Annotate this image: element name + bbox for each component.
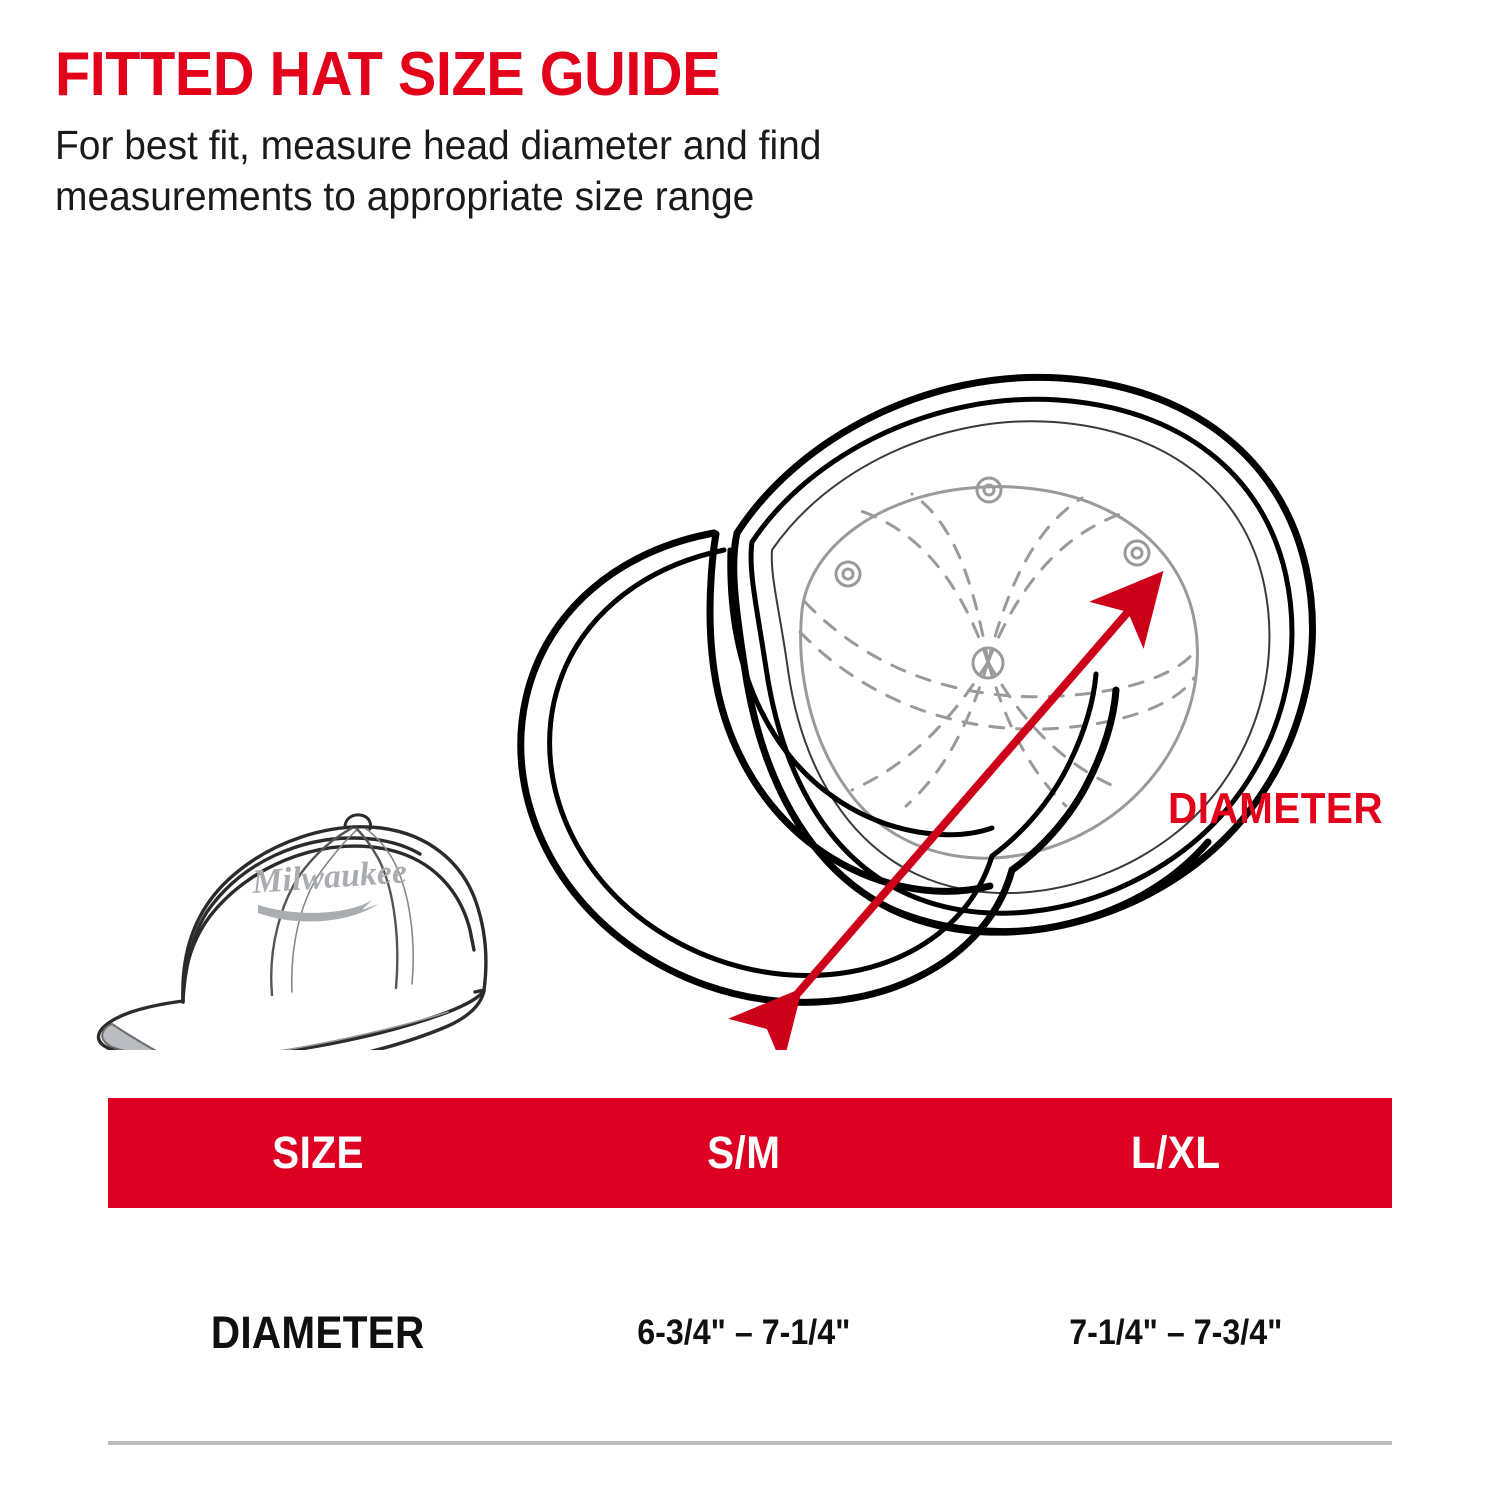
eyelet-right (1125, 541, 1149, 565)
seam-b (912, 494, 988, 662)
cap-outer-edge-inner (751, 399, 1292, 913)
subtitle-line-2: measurements to appropriate size range (55, 171, 1005, 222)
size-guide-page: FITTED HAT SIZE GUIDE For best fit, meas… (0, 0, 1500, 1500)
page-title: FITTED HAT SIZE GUIDE (55, 44, 985, 106)
table-sm-value-text: 6-3/4" – 7-1/4" (637, 1313, 850, 1353)
table-header-row: SIZE S/M L/XL (108, 1098, 1392, 1208)
seam-d (988, 498, 1082, 662)
table-header-size-text: SIZE (272, 1127, 364, 1179)
small-cap-side-view (98, 815, 485, 1050)
hat-illustration-svg: Milwaukee (0, 250, 1500, 1050)
table-header-cell-sm: S/M (528, 1127, 960, 1179)
milwaukee-lightning-bolt (258, 900, 378, 922)
cap-back-contour (893, 842, 1208, 932)
diameter-callout-label: DIAMETER (1168, 784, 1383, 834)
table-header-sm-text: S/M (707, 1127, 780, 1179)
header: FITTED HAT SIZE GUIDE For best fit, meas… (55, 44, 1055, 222)
table-header-lxl-text: L/XL (1131, 1127, 1221, 1179)
cap-eyelets (836, 478, 1149, 586)
large-cap-interior-view (521, 377, 1313, 1002)
milwaukee-logo-text: Milwaukee (250, 853, 408, 901)
cap-band (240, 1012, 448, 1050)
seam-a (858, 510, 988, 662)
cap-brim-underside (102, 1024, 158, 1050)
eyelet-top (977, 478, 1001, 502)
cap-brim-top (98, 991, 484, 1050)
seam-equator-2 (800, 632, 1194, 729)
table-lxl-value-text: 7-1/4" – 7-3/4" (1069, 1313, 1282, 1353)
subtitle-line-1: For best fit, measure head diameter and … (55, 120, 1005, 171)
table-row: DIAMETER 6-3/4" – 7-1/4" 7-1/4" – 7-3/4" (108, 1278, 1392, 1388)
table-cell-lxl-value: 7-1/4" – 7-3/4" (960, 1313, 1392, 1353)
table-header-cell-lxl: L/XL (960, 1127, 1392, 1179)
seam-e (852, 662, 988, 790)
cap-brim-right-band-inner (992, 674, 1096, 856)
page-subtitle: For best fit, measure head diameter and … (55, 120, 1005, 222)
size-table: SIZE S/M L/XL DIAMETER 6-3/4" – 7-1/4" 7… (108, 1098, 1392, 1388)
milwaukee-logo: Milwaukee (250, 853, 408, 921)
table-header-cell-size: SIZE (108, 1127, 528, 1179)
table-cell-sm-value: 6-3/4" – 7-1/4" (528, 1313, 960, 1353)
bottom-divider (108, 1441, 1392, 1445)
eyelet-left (836, 562, 860, 586)
seam-g (988, 662, 1118, 788)
hat-illustration: Milwaukee (0, 250, 1500, 1050)
table-cell-row-label: DIAMETER (108, 1307, 528, 1359)
table-row-label-text: DIAMETER (211, 1307, 425, 1359)
